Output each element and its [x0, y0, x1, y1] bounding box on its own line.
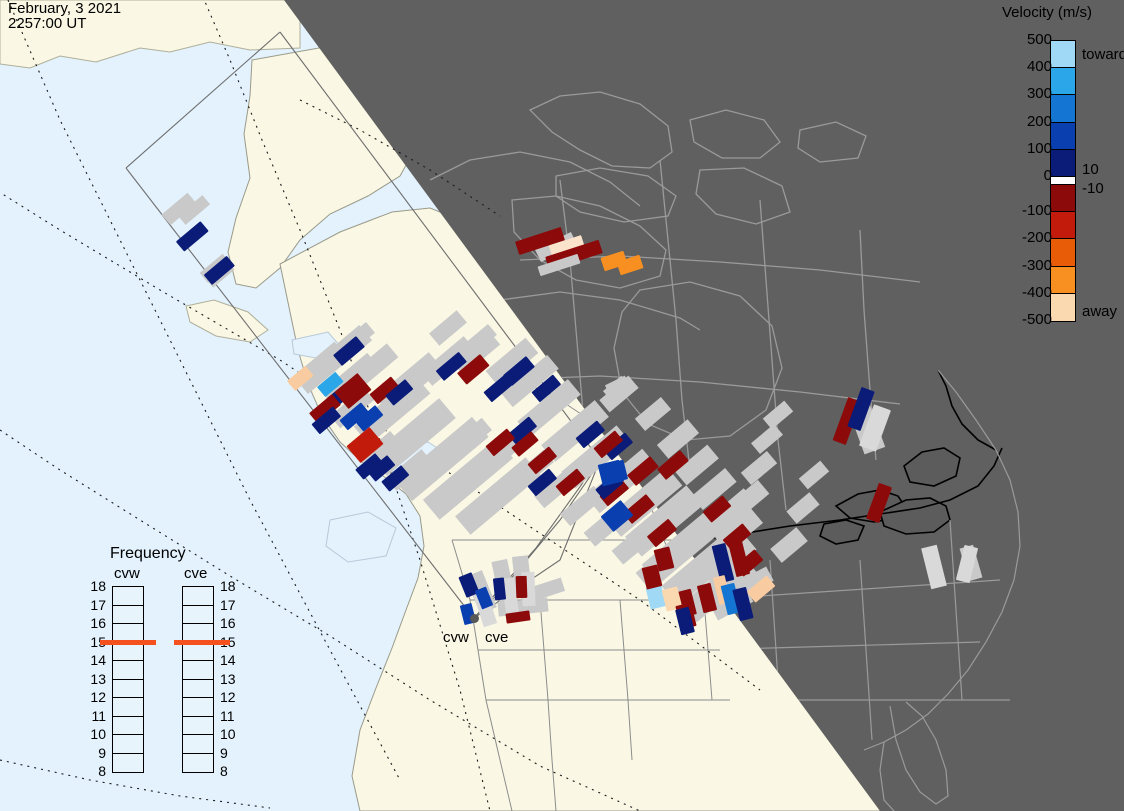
frequency-cell: [183, 643, 213, 662]
frequency-column-label-cvw: cvw: [114, 565, 140, 582]
frequency-tick: 8: [98, 766, 106, 776]
frequency-title: Frequency: [110, 545, 186, 563]
frequency-cell: [183, 735, 213, 754]
colorbar-tick: 300: [1027, 85, 1052, 102]
frequency-cell: [183, 754, 213, 773]
frequency-cell: [113, 606, 143, 625]
colorbar-segment: [1051, 68, 1075, 95]
colorbar-title: Velocity (m/s): [1002, 4, 1092, 21]
frequency-cell: [113, 680, 143, 699]
colorbar-tick: -500: [1022, 311, 1052, 328]
map-date: February, 3 2021: [8, 1, 121, 16]
frequency-tick: 18: [220, 581, 236, 591]
frequency-bar-cvw: [112, 586, 144, 773]
colorbar-segment: [1051, 185, 1075, 212]
frequency-tick: 9: [98, 748, 106, 758]
frequency-cell: [113, 661, 143, 680]
frequency-tick: 10: [90, 729, 106, 739]
colorbar-tick: -300: [1022, 257, 1052, 274]
frequency-cell: [113, 643, 143, 662]
colorbar-tick: -400: [1022, 284, 1052, 301]
superdarn-velocity-map: February, 3 2021 2257:00 UT cvw cve Velo…: [0, 0, 1124, 811]
colorbar-segment: [1051, 212, 1075, 239]
frequency-cell: [183, 587, 213, 606]
frequency-cell: [113, 735, 143, 754]
frequency-cell: [183, 717, 213, 736]
velocity-colorbar-panel: Velocity (m/s) 5004003002001000-100-200-…: [994, 0, 1124, 340]
radar-label-cvw: cvw: [443, 629, 469, 646]
colorbar-segment: [1051, 294, 1075, 321]
frequency-column-label-cve: cve: [184, 565, 207, 582]
colorbar-toward-label: toward: [1082, 46, 1124, 63]
frequency-panel: Frequency cvw cve 18171615141312111098 1…: [80, 545, 240, 780]
frequency-tick: 17: [90, 600, 106, 610]
colorbar-tick: 500: [1027, 31, 1052, 48]
colorbar-segment: [1051, 41, 1075, 68]
frequency-cell: [183, 661, 213, 680]
frequency-tick: 11: [91, 711, 106, 721]
colorbar-segment: [1051, 239, 1075, 266]
colorbar-tick: -100: [1022, 202, 1052, 219]
colorbar-zero-upper-label: 10: [1082, 161, 1099, 178]
frequency-tick: 16: [220, 618, 236, 628]
frequency-tick: 8: [220, 766, 228, 776]
frequency-tick: 12: [220, 692, 236, 702]
frequency-tick: 10: [220, 729, 236, 739]
frequency-cell: [183, 606, 213, 625]
colorbar-segment: [1051, 267, 1075, 294]
colorbar-tick: 100: [1027, 140, 1052, 157]
radar-label-cve: cve: [485, 629, 508, 646]
colorbar-tick: 0: [1044, 167, 1052, 184]
frequency-tick: 11: [220, 711, 235, 721]
colorbar-segment: [1051, 95, 1075, 122]
frequency-tick: 18: [90, 581, 106, 591]
frequency-marker: [100, 640, 156, 645]
colorbar-tick: -200: [1022, 229, 1052, 246]
colorbar-gradient: [1050, 40, 1076, 322]
frequency-bar-cve: [182, 586, 214, 773]
frequency-tick: 17: [220, 600, 236, 610]
colorbar-segment: [1051, 150, 1075, 177]
frequency-cell: [113, 587, 143, 606]
colorbar-tick: 200: [1027, 113, 1052, 130]
frequency-marker: [174, 640, 230, 645]
map-time: 2257:00 UT: [8, 16, 121, 31]
frequency-tick: 9: [220, 748, 228, 758]
colorbar-away-label: away: [1082, 303, 1117, 320]
radar-site-marker: [470, 614, 479, 623]
frequency-tick: 14: [220, 655, 236, 665]
frequency-tick: 14: [90, 655, 106, 665]
timestamp-block: February, 3 2021 2257:00 UT: [8, 1, 121, 31]
colorbar-zero-lower-label: -10: [1082, 180, 1104, 197]
colorbar-tick: 400: [1027, 58, 1052, 75]
frequency-tick: 13: [220, 674, 236, 684]
frequency-tick: 12: [90, 692, 106, 702]
colorbar-segment: [1051, 123, 1075, 150]
frequency-cell: [183, 698, 213, 717]
frequency-cell: [183, 680, 213, 699]
frequency-cell: [113, 754, 143, 773]
frequency-cell: [113, 717, 143, 736]
frequency-cell: [113, 698, 143, 717]
frequency-tick: 16: [90, 618, 106, 628]
frequency-tick: 13: [90, 674, 106, 684]
colorbar-segment: [1051, 177, 1075, 185]
